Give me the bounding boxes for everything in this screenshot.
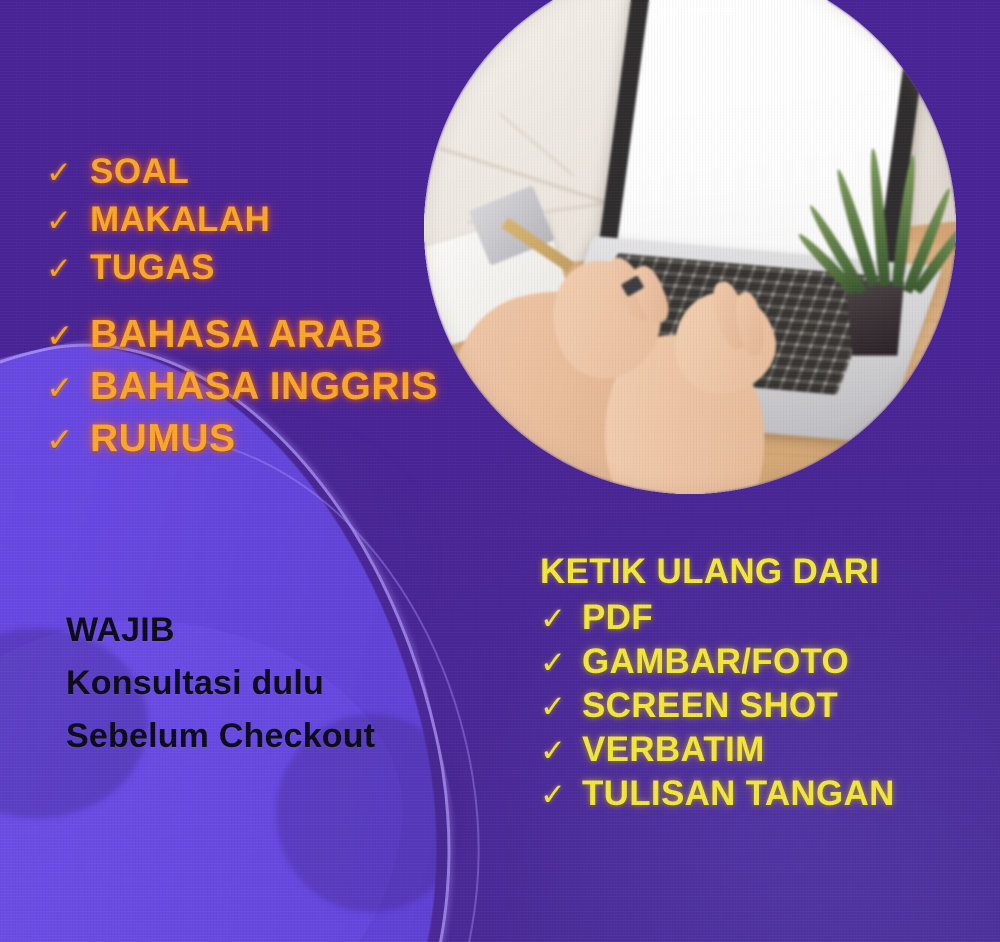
service-label: SOAL (90, 152, 189, 192)
notice-line-wajib: WAJIB (66, 604, 486, 657)
consultation-notice: WAJIB Konsultasi dulu Sebelum Checkout (66, 604, 486, 763)
source-label: GAMBAR/FOTO (582, 642, 849, 682)
services-checklist: ✓ SOAL ✓ MAKALAH ✓ TUGAS ✓ BAHASA ARAB ✓… (46, 152, 476, 469)
check-icon: ✓ (46, 253, 72, 284)
check-icon: ✓ (46, 157, 72, 188)
service-label: BAHASA INGGRIS (90, 365, 438, 409)
check-icon: ✓ (540, 735, 566, 766)
photo-content (424, 0, 956, 494)
list-item: ✓ VERBATIM (540, 730, 980, 770)
list-item: ✓ GAMBAR/FOTO (540, 642, 980, 682)
retype-sources-checklist: KETIK ULANG DARI ✓ PDF ✓ GAMBAR/FOTO ✓ S… (540, 552, 980, 818)
check-icon: ✓ (540, 647, 566, 678)
service-label: BAHASA ARAB (90, 313, 383, 357)
list-item: ✓ SCREEN SHOT (540, 686, 980, 726)
list-item: ✓ BAHASA ARAB (46, 313, 476, 357)
list-item: ✓ RUMUS (46, 417, 476, 461)
check-icon: ✓ (46, 423, 72, 456)
source-label: PDF (582, 598, 653, 638)
notice-line-consult: Konsultasi dulu (66, 657, 486, 710)
photo-laptop-screen (616, 0, 913, 271)
source-label: TULISAN TANGAN (582, 774, 895, 814)
check-icon: ✓ (46, 205, 72, 236)
laptop-typing-photo (424, 0, 956, 494)
check-icon: ✓ (540, 691, 566, 722)
service-label: MAKALAH (90, 200, 270, 240)
list-item: ✓ MAKALAH (46, 200, 476, 240)
promo-poster: ✓ SOAL ✓ MAKALAH ✓ TUGAS ✓ BAHASA ARAB ✓… (0, 0, 1000, 942)
check-icon: ✓ (540, 779, 566, 810)
source-label: VERBATIM (582, 730, 765, 770)
check-icon: ✓ (46, 371, 72, 404)
list-item: ✓ SOAL (46, 152, 476, 192)
source-label: SCREEN SHOT (582, 686, 838, 726)
list-item: ✓ TUGAS (46, 248, 476, 288)
notice-line-before-checkout: Sebelum Checkout (66, 710, 486, 763)
list-item: ✓ PDF (540, 598, 980, 638)
service-label: RUMUS (90, 417, 236, 461)
retype-sources-heading: KETIK ULANG DARI (540, 552, 980, 592)
service-label: TUGAS (90, 248, 215, 288)
list-item: ✓ TULISAN TANGAN (540, 774, 980, 814)
list-group-divider (46, 296, 476, 313)
list-item: ✓ BAHASA INGGRIS (46, 365, 476, 409)
check-icon: ✓ (540, 603, 566, 634)
check-icon: ✓ (46, 319, 72, 352)
